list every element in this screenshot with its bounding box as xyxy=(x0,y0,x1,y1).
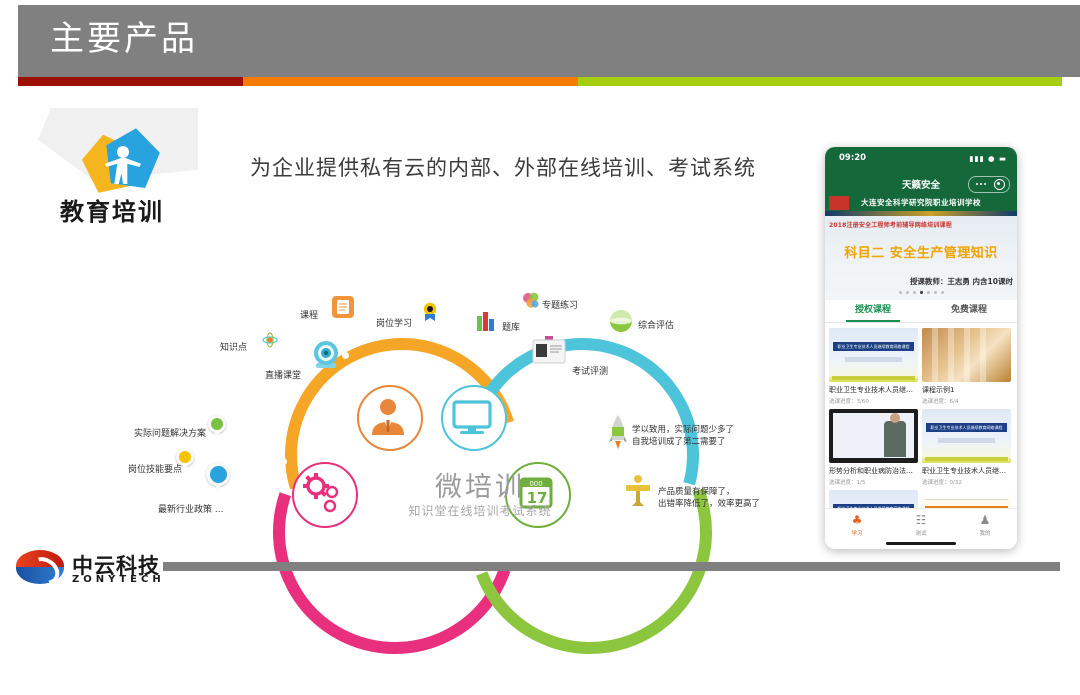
thumb-title: 职业卫生专业技术人员继续教育网络课程 xyxy=(926,423,1007,432)
tab-authorized-courses[interactable]: 授权课程 xyxy=(825,300,921,322)
course-progress: 选课进度：6/4 xyxy=(922,397,1011,405)
miniprogram-capsule[interactable] xyxy=(968,176,1010,193)
person-icon: ♟ xyxy=(953,513,1017,527)
pin-label-policy: 最新行业政策 ... xyxy=(158,502,223,515)
thumb-title: 职业卫生专业技术人员继续教育网络课程 xyxy=(833,342,914,351)
course-card[interactable]: 职业卫生专业技术人员继续教育网络课程 职业卫生专业技术人员继续教... 选课进度… xyxy=(829,328,918,405)
tabbar-label: 我的 xyxy=(953,529,1017,537)
company-logo: 中云科技 ZONYTECH xyxy=(16,546,166,590)
mini-label-knowledge: 知识点 xyxy=(220,340,247,353)
banner-rule xyxy=(825,211,1017,216)
home-indicator xyxy=(886,542,956,545)
arc-dot xyxy=(280,458,287,465)
logo-mark-icon xyxy=(16,548,64,586)
idcard-icon xyxy=(532,336,566,364)
course-title: 职业卫生专业技术人员继续教... xyxy=(922,466,1011,476)
page-title: 主要产品 xyxy=(50,17,198,61)
arc-dot xyxy=(580,450,587,457)
course-progress: 选课进度：0/32 xyxy=(922,478,1011,486)
banner-carousel[interactable]: 大连安全科学研究院职业培训学校 2018注册安全工程师考前辅导网络培训课程 科目… xyxy=(825,195,1017,300)
course-thumbnail: 职业卫生专业技术人员继续教育网络课程 xyxy=(829,328,918,382)
mini-label-live-class: 直播课堂 xyxy=(265,368,301,381)
course-card[interactable]: 课程示例1 选课进度：6/4 xyxy=(922,328,1011,405)
status-time: 09:20 xyxy=(839,153,866,163)
monitor-icon xyxy=(441,385,507,451)
infographic: 知识点 课程 岗位学习 直播课堂 题库 专题练习 综合评估 xyxy=(110,290,820,540)
map-pin-icon xyxy=(206,462,230,496)
arc-dot xyxy=(342,352,349,359)
mini-label-exam-eval: 考试评测 xyxy=(572,364,608,377)
course-progress: 选课进度：1/5 xyxy=(829,478,918,486)
note-text-2: 产品质量有保障了， 出错率降低了，效率更高了 xyxy=(658,486,760,511)
atom-icon xyxy=(262,332,278,348)
course-title: 形势分析和职业病防治法解读 xyxy=(829,466,918,476)
study-icon: ♣ xyxy=(825,513,889,527)
tabbar-label: 测试 xyxy=(889,529,953,537)
center-title: 微培训 xyxy=(380,465,580,504)
pentagon-blue xyxy=(101,125,163,190)
slide: 主要产品 教育培训 为企业提供私有云的内部、外部在线培训、考试系统 知识点 课程 xyxy=(0,0,1080,608)
grid-icon: ☷ xyxy=(889,513,953,527)
phone-nav-bar: 天籁安全 xyxy=(825,173,1017,195)
close-icon[interactable] xyxy=(994,179,1005,190)
tab-free-courses[interactable]: 免费课程 xyxy=(921,300,1017,322)
phone-mockup: 09:20 ▮▮▮ ● ▬ 天籁安全 大连安全科学研究院职业培训学校 2018注… xyxy=(825,147,1017,549)
books-icon xyxy=(476,310,498,332)
course-title: 职业卫生专业技术人员继续教... xyxy=(829,385,918,395)
mini-label-topic-practice: 专题练习 xyxy=(542,298,578,311)
note-text-1: 学以致用，实际问题少多了 自我培训成了第二需要了 xyxy=(632,424,734,449)
course-progress: 选课进度：3/60 xyxy=(829,397,918,405)
logo-text-en: ZONYTECH xyxy=(72,574,165,585)
school-badge-icon xyxy=(829,196,849,210)
banner-school: 大连安全科学研究院职业培训学校 xyxy=(825,195,1017,211)
webcam-icon xyxy=(310,338,342,370)
accent-bar-green xyxy=(578,77,1062,86)
document-icon xyxy=(332,296,354,318)
carousel-dots[interactable] xyxy=(825,279,1017,298)
signpost-icon xyxy=(622,474,654,510)
course-thumbnail: 职业卫生专业技术人员继续教育网络课程 xyxy=(922,409,1011,463)
mini-label-course: 课程 xyxy=(300,308,318,321)
accent-bar-orange xyxy=(243,77,578,86)
banner-subtitle: 2018注册安全工程师考前辅导网络培训课程 xyxy=(829,220,952,229)
badge-icon xyxy=(422,302,438,322)
pin-label-skills: 岗位技能要点 xyxy=(128,462,182,475)
course-thumbnail xyxy=(922,328,1011,382)
teacher-icon xyxy=(357,385,423,451)
pentagon-logo xyxy=(83,126,159,198)
center-subtitle: 知识堂在线培训考试系统 xyxy=(350,502,610,519)
pin-label-solutions: 实际问题解决方案 xyxy=(134,426,206,439)
figure-head xyxy=(117,146,129,158)
phone-tab-bar[interactable]: ♣ 学习 ☷ 测试 ♟ 我的 xyxy=(825,508,1017,549)
arc-dot xyxy=(486,338,493,345)
mini-label-overall-eval: 综合评估 xyxy=(638,318,674,331)
gears-icon xyxy=(292,462,358,528)
tabbar-label: 学习 xyxy=(825,529,889,537)
product-label: 教育培训 xyxy=(60,192,164,227)
tabbar-item-mine[interactable]: ♟ 我的 xyxy=(953,509,1017,549)
course-title: 课程示例1 xyxy=(922,385,1011,395)
map-pin-icon xyxy=(208,415,226,441)
rocket-icon xyxy=(608,415,628,451)
course-thumbnail xyxy=(829,409,918,463)
course-tabs[interactable]: 授权课程 免费课程 xyxy=(825,300,1017,323)
status-signal-icons: ▮▮▮ ● ▬ xyxy=(969,154,1007,163)
map-pin-icon xyxy=(176,448,194,474)
tabbar-item-study[interactable]: ♣ 学习 xyxy=(825,509,889,549)
footer-bar xyxy=(163,562,1060,571)
accent-bar-red xyxy=(18,77,243,86)
sphere-icon xyxy=(608,308,634,334)
mini-label-question-bank: 题库 xyxy=(502,320,520,333)
balloons-icon xyxy=(522,292,540,310)
course-card[interactable]: 职业卫生专业技术人员继续教育网络课程 职业卫生专业技术人员继续教... 选课进度… xyxy=(922,409,1011,486)
phone-status-bar: 09:20 ▮▮▮ ● ▬ xyxy=(825,147,1017,173)
banner-main-title: 科目二 安全生产管理知识 xyxy=(825,242,1017,261)
headline-text: 为企业提供私有云的内部、外部在线培训、考试系统 xyxy=(250,152,756,182)
course-card[interactable]: 形势分析和职业病防治法解读 选课进度：1/5 xyxy=(829,409,918,486)
mini-label-job-study: 岗位学习 xyxy=(376,316,412,329)
